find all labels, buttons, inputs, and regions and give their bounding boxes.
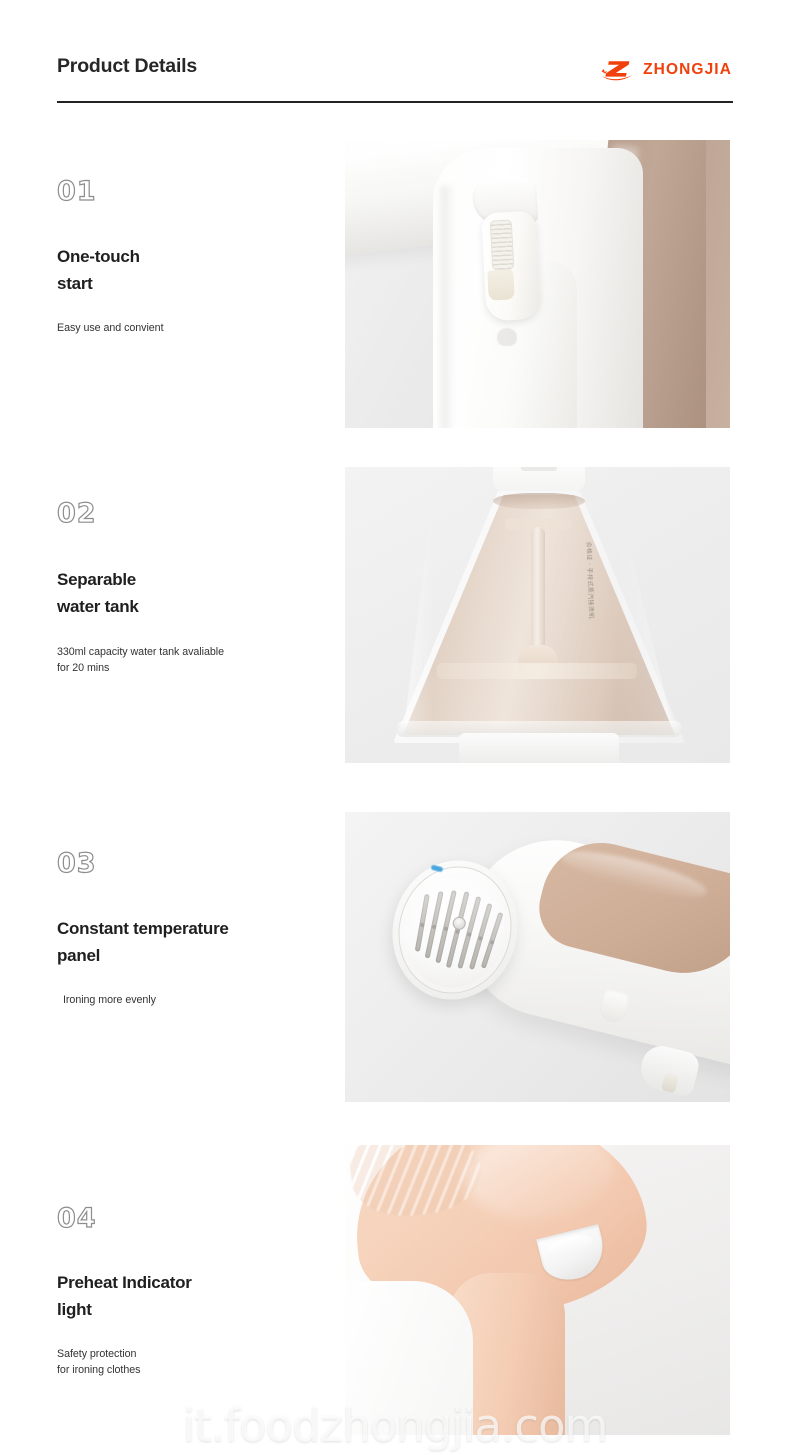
feature-number-02: 02 bbox=[57, 500, 337, 527]
feature-title-04-line2: light bbox=[57, 1297, 337, 1324]
feature-title-02-line1: Separable bbox=[57, 567, 337, 594]
feature-section-02: 02 Separable water tank 330ml capacity w… bbox=[0, 467, 790, 763]
feature-title-02-line2: water tank bbox=[57, 594, 337, 621]
feature-description-01: Easy use and convient bbox=[57, 320, 337, 336]
feature-image-01 bbox=[345, 140, 730, 428]
feature-image-02: 合格证 · 手持式蒸汽挂烫机 bbox=[345, 467, 730, 763]
feature-description-04-line1: Safety protection bbox=[57, 1346, 337, 1362]
feature-number-03: 03 bbox=[57, 850, 347, 877]
feature-image-04 bbox=[345, 1145, 730, 1435]
feature-section-01: 01 One-touch start Easy use and convient bbox=[0, 140, 790, 430]
page-header: Product Details ZHONGJIA bbox=[0, 0, 790, 110]
product-details-page: Product Details ZHONGJIA 01 One-touch st… bbox=[0, 0, 790, 1455]
feature-section-04: 04 Preheat Indicator light Safety protec… bbox=[0, 1145, 790, 1435]
feature-title-01-line1: One-touch bbox=[57, 244, 337, 271]
feature-description-02-line1: 330ml capacity water tank avaliable bbox=[57, 644, 337, 660]
brand-name: ZHONGJIA bbox=[643, 58, 732, 82]
feature-title-01-line2: start bbox=[57, 271, 337, 298]
feature-title-04-line1: Preheat Indicator bbox=[57, 1270, 337, 1297]
feature-text-block-04: 04 Preheat Indicator light Safety protec… bbox=[57, 1205, 337, 1378]
feature-description-04-line2: for ironing clothes bbox=[57, 1362, 337, 1378]
feature-description-02-line2: for 20 mins bbox=[57, 660, 337, 676]
feature-image-03 bbox=[345, 812, 730, 1102]
page-title: Product Details bbox=[57, 55, 197, 78]
feature-title-03-line1: Constant temperature bbox=[57, 916, 347, 943]
feature-section-03: 03 Constant temperature panel Ironing mo… bbox=[0, 812, 790, 1102]
header-divider bbox=[57, 101, 733, 103]
zhongjia-z-star-logo-icon bbox=[599, 58, 637, 82]
feature-text-block-03: 03 Constant temperature panel Ironing mo… bbox=[57, 850, 347, 1008]
feature-number-04: 04 bbox=[57, 1205, 337, 1232]
tank-printed-label: 合格证 · 手持式蒸汽挂烫机 bbox=[497, 541, 597, 664]
feature-text-block-01: 01 One-touch start Easy use and convient bbox=[57, 178, 337, 336]
feature-title-03-line2: panel bbox=[57, 943, 347, 970]
feature-description-03: Ironing more evenly bbox=[57, 992, 347, 1008]
feature-number-01: 01 bbox=[57, 178, 337, 205]
steam-center-hole bbox=[451, 915, 467, 931]
feature-text-block-02: 02 Separable water tank 330ml capacity w… bbox=[57, 500, 337, 676]
brand-logo: ZHONGJIA bbox=[599, 58, 732, 82]
